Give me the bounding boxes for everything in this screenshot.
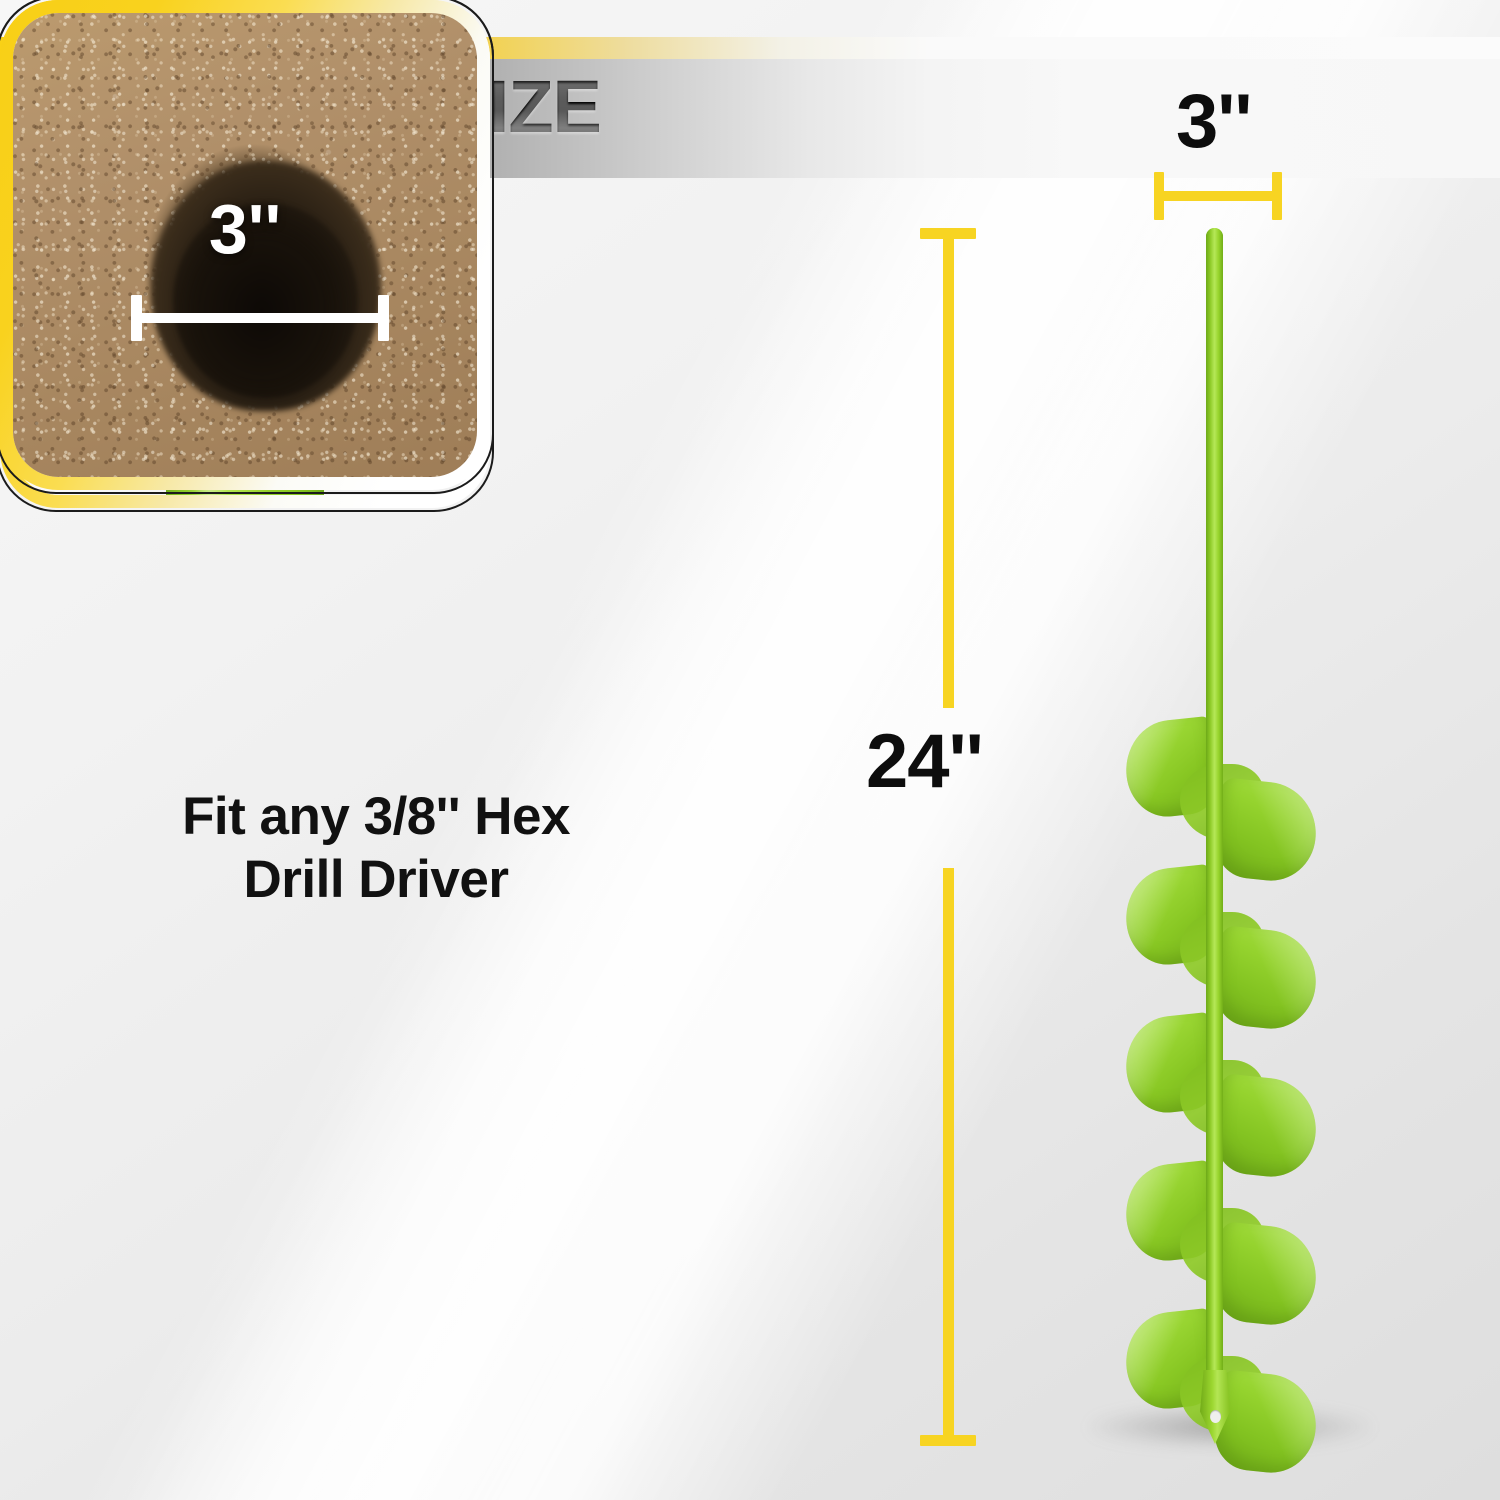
auger-flight-turn [1120, 868, 1330, 1033]
auger-flight-turn [1120, 1016, 1330, 1181]
width-cap-right [1272, 172, 1282, 220]
hole-diameter-ruler [131, 295, 389, 341]
soil-hole-card: 3'' [0, 508, 490, 998]
auger-flight-turn [1120, 720, 1330, 885]
hole-diameter-label: 3'' [13, 189, 477, 269]
length-dimension-line [920, 228, 976, 1446]
length-cap-bottom [920, 1435, 976, 1446]
soil-card-photo: 3'' [13, 13, 477, 477]
length-line-lower [943, 868, 954, 1446]
width-dimension-label: 3'' [1176, 78, 1251, 165]
hex-caption: Fit any 3/8'' Hex Drill Driver [128, 786, 624, 911]
soil-card-border: 3'' [0, 0, 490, 490]
infographic-canvas: PRODUCT SIZE Fit any 3/8'' Hex Drill Dri… [0, 0, 1500, 1500]
auger-flight-turn [1120, 1164, 1330, 1329]
width-dimension-line [1154, 172, 1282, 220]
ruler-cap-right [378, 295, 389, 341]
length-line-upper [943, 238, 954, 708]
auger-tip-hole [1210, 1410, 1221, 1423]
auger-shaft-front [1206, 228, 1223, 1408]
width-bar [1154, 191, 1282, 201]
hex-caption-line-2: Drill Driver [128, 849, 624, 912]
length-dimension-label: 24'' [866, 718, 983, 805]
hex-caption-line-1: Fit any 3/8'' Hex [128, 786, 624, 849]
auger-drill-bit [1120, 220, 1330, 1450]
ruler-bar [131, 313, 389, 323]
